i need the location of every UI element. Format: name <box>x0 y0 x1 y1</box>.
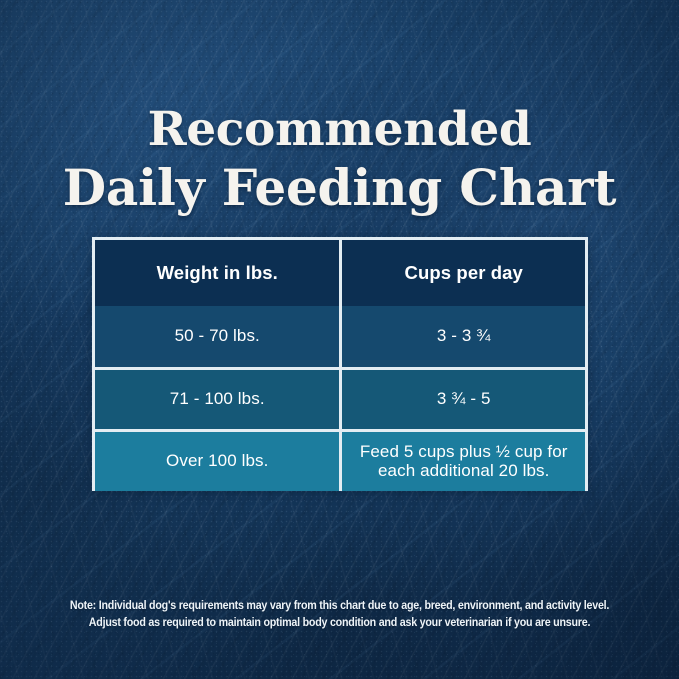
footnote: Note: Individual dog's requirements may … <box>55 598 623 632</box>
column-header-weight: Weight in lbs. <box>95 240 341 306</box>
page-title-line-2: Daily Feeding Chart <box>0 159 679 217</box>
table-row: 50 - 70 lbs. 3 - 3 ¾ <box>95 306 585 368</box>
footnote-line-2: Adjust food as required to maintain opti… <box>55 615 623 632</box>
cell-weight-row-3: Over 100 lbs. <box>95 430 341 491</box>
cell-cups-row-3-line-2: each additional 20 lbs. <box>342 461 585 480</box>
table-row: Over 100 lbs. Feed 5 cups plus ½ cup for… <box>95 430 585 491</box>
footnote-line-1: Note: Individual dog's requirements may … <box>55 598 623 615</box>
page-title: Recommended Daily Feeding Chart <box>0 101 679 217</box>
cell-cups-row-3-line-1: Feed 5 cups plus ½ cup for <box>342 442 585 461</box>
feeding-chart-table-container: Weight in lbs. Cups per day 50 - 70 lbs.… <box>92 237 588 491</box>
cell-cups-row-2: 3 ¾ - 5 <box>341 368 585 430</box>
cell-cups-row-3: Feed 5 cups plus ½ cup for each addition… <box>341 430 585 491</box>
page-title-line-1: Recommended <box>0 101 679 159</box>
table-row: 71 - 100 lbs. 3 ¾ - 5 <box>95 368 585 430</box>
cell-weight-row-2: 71 - 100 lbs. <box>95 368 341 430</box>
cell-cups-row-1: 3 - 3 ¾ <box>341 306 585 368</box>
feeding-chart-table: Weight in lbs. Cups per day 50 - 70 lbs.… <box>95 240 585 491</box>
table-header-row: Weight in lbs. Cups per day <box>95 240 585 306</box>
feeding-chart-poster: Recommended Daily Feeding Chart Weight i… <box>0 0 679 679</box>
column-header-cups: Cups per day <box>341 240 585 306</box>
cell-weight-row-1: 50 - 70 lbs. <box>95 306 341 368</box>
